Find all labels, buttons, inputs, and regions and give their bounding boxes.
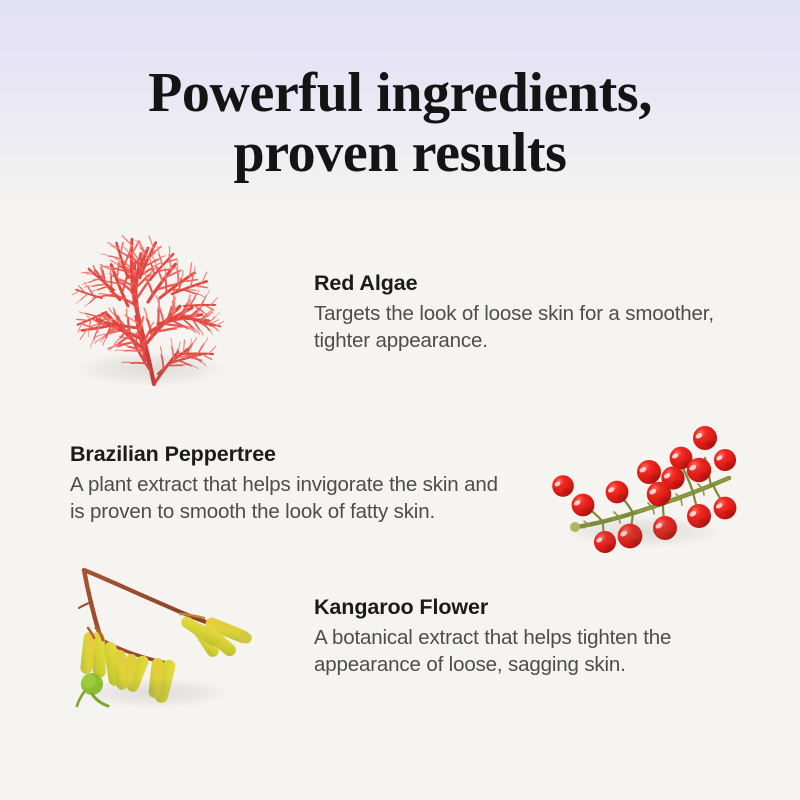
ingredient-name: Kangaroo Flower [314, 594, 736, 621]
ingredient-name: Red Algae [314, 270, 736, 297]
ingredients-infographic: Powerful ingredients, proven results [0, 0, 800, 800]
page-title: Powerful ingredients, proven results [0, 64, 800, 184]
ingredient-description: A plant extract that helps invigorate th… [70, 471, 505, 526]
page-title-line-1: Powerful ingredients, [0, 64, 800, 124]
brazilian-peppertree-copy: Brazilian Peppertree A plant extract tha… [70, 441, 533, 525]
brazilian-peppertree-berries-photo [533, 408, 748, 558]
page-title-line-2: proven results [0, 124, 800, 184]
red-algae-copy: Red Algae Targets the look of loose skin… [258, 270, 740, 354]
kangaroo-flower-copy: Kangaroo Flower A botanical extract that… [258, 594, 740, 678]
kangaroo-flower-illustration [58, 556, 258, 716]
ingredient-row-kangaroo-flower: Kangaroo Flower A botanical extract that… [0, 556, 800, 716]
ingredient-description: Targets the look of loose skin for a smo… [314, 300, 736, 355]
brazilian-peppertree-illustration [533, 408, 748, 558]
ingredient-row-brazilian-peppertree: Brazilian Peppertree A plant extract tha… [0, 408, 800, 558]
kangaroo-flower-photo [58, 556, 258, 716]
red-algae-illustration [58, 232, 258, 392]
ingredient-name: Brazilian Peppertree [70, 441, 505, 468]
red-algae-photo [58, 232, 258, 392]
ingredient-row-red-algae: Red Algae Targets the look of loose skin… [0, 232, 800, 392]
ingredient-description: A botanical extract that helps tighten t… [314, 624, 736, 679]
